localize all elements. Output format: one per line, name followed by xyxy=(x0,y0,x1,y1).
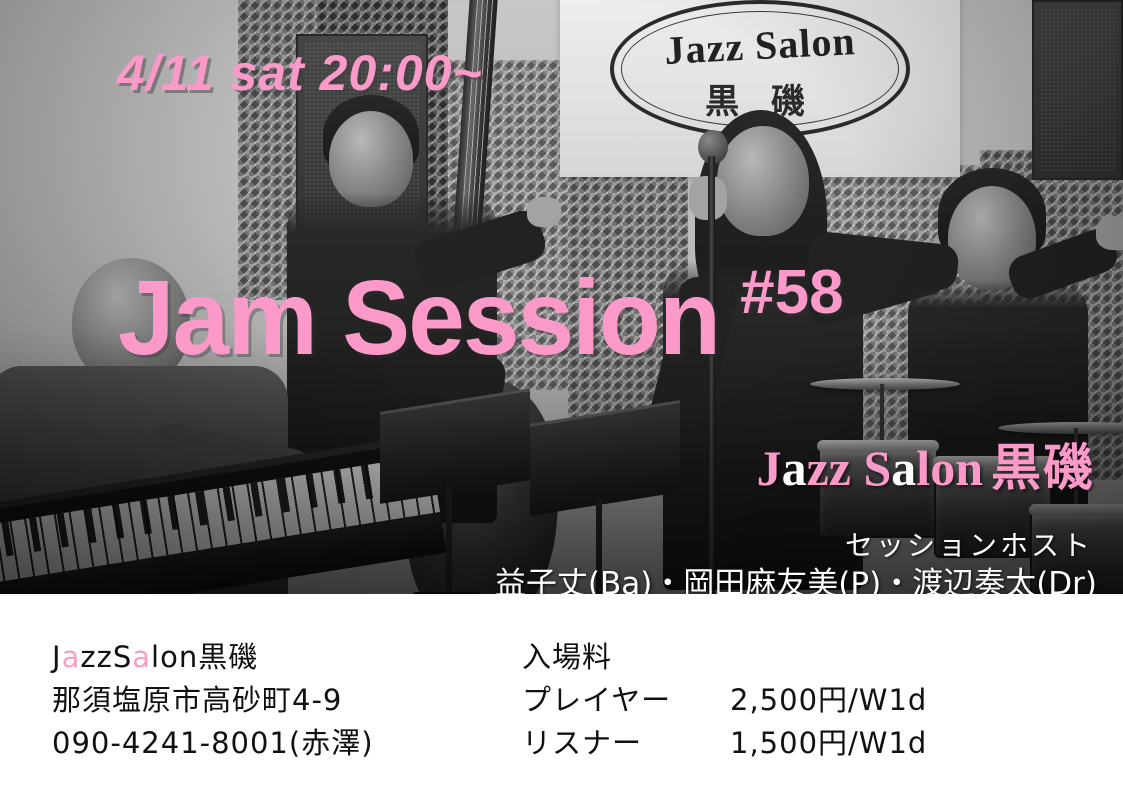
footer-shop-name: JazzSalon黒磯 xyxy=(52,636,374,679)
venue-name: Jazz Salon黒磯 xyxy=(757,428,1095,500)
price-value: 2,500円/W1d xyxy=(730,679,927,722)
venue-name-english: Jazz Salon xyxy=(757,440,983,496)
price-row: プレイヤー 2,500円/W1d xyxy=(522,679,927,722)
admission-heading: 入場料 xyxy=(522,636,927,679)
price-label: プレイヤー xyxy=(522,679,730,722)
venue-contact-block: JazzSalon黒磯 那須塩原市高砂町4-9 090-4241-8001(赤澤… xyxy=(52,636,374,765)
event-date: 4/11 sat 20:00~ xyxy=(117,44,483,102)
price-label: リスナー xyxy=(522,722,730,765)
event-title: Jam Session #58 xyxy=(118,268,844,370)
price-row: リスナー 1,500円/W1d xyxy=(522,722,927,765)
event-title-number: #58 xyxy=(740,262,843,324)
event-title-main: Jam Session xyxy=(118,268,719,370)
price-value: 1,500円/W1d xyxy=(730,722,927,765)
footer-address: 那須塩原市高砂町4-9 xyxy=(52,679,374,722)
venue-name-japanese: 黒磯 xyxy=(991,438,1095,497)
footer-phone: 090-4241-8001(赤澤) xyxy=(52,722,374,765)
footer-info: JazzSalon黒磯 那須塩原市高砂町4-9 090-4241-8001(赤澤… xyxy=(0,594,1123,794)
admission-block: 入場料 プレイヤー 2,500円/W1d リスナー 1,500円/W1d xyxy=(522,636,927,765)
jam-session-flyer: Jazz Salon 黒 磯 xyxy=(0,0,1123,794)
